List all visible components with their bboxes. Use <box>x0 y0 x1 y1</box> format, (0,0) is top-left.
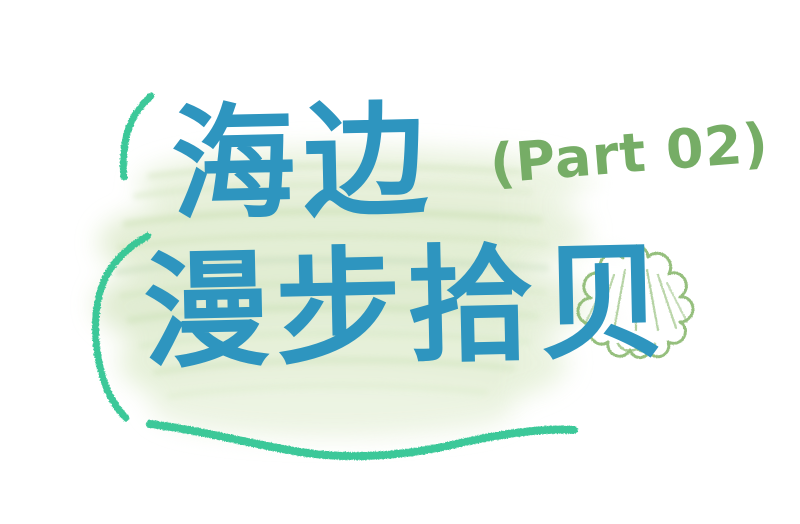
title-line-2: 漫步拾贝 <box>142 239 673 376</box>
green-stroke-top-left <box>123 96 151 177</box>
poster-canvas: 海边 漫步拾贝 (Part 02) 海边漫步拾贝 Seaside Stroll,… <box>0 0 800 524</box>
title-line-1: 海边 <box>170 98 437 228</box>
